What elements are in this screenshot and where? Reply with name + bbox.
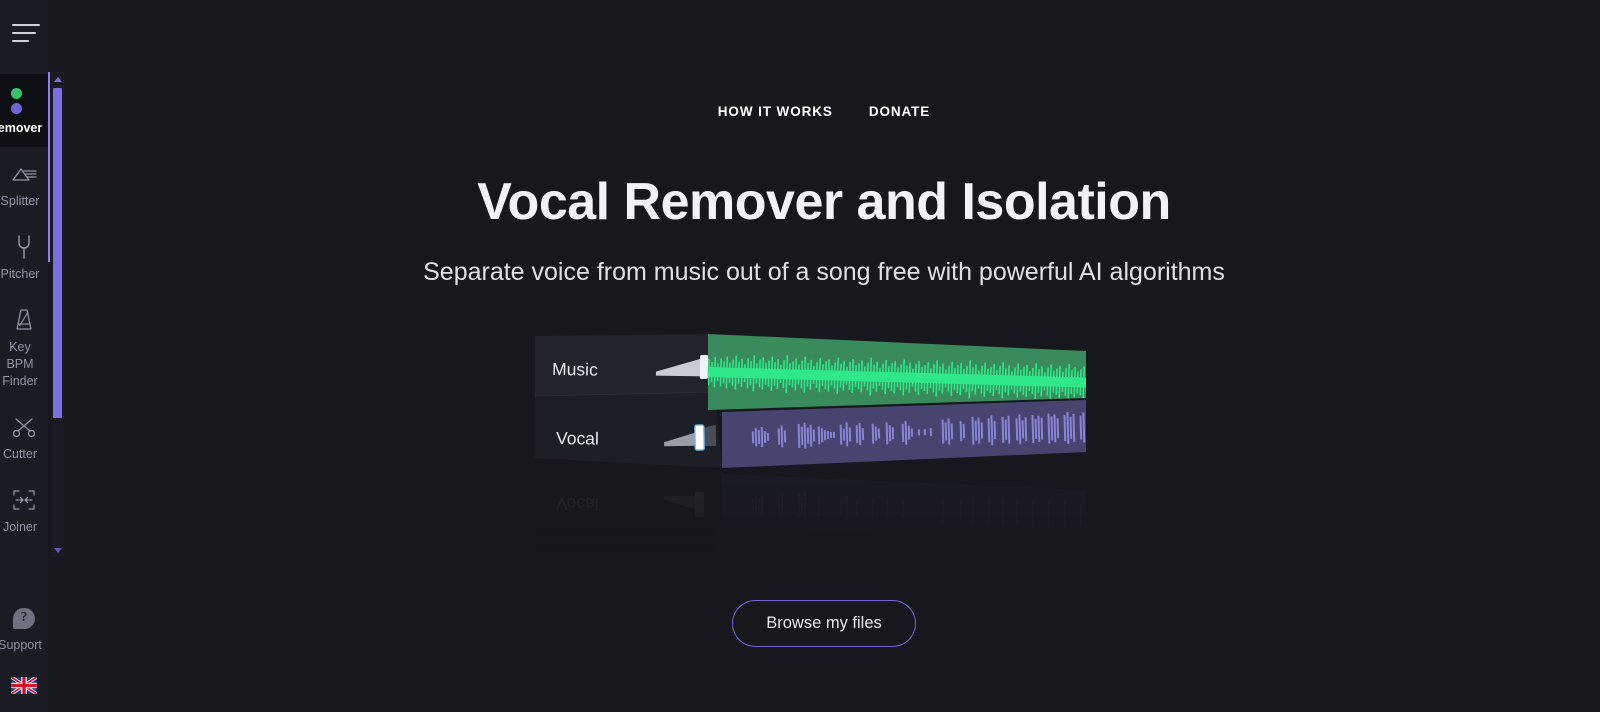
scissors-icon [9,412,39,442]
support-label: Support [0,637,42,654]
sidebar-item-label: Cutter [3,446,37,463]
vocal-slider-handle[interactable] [695,425,704,450]
upload-area: Browse my files [68,600,1580,647]
sidebar-item-label: emover [0,120,42,137]
vocal-remover-dots-icon [9,86,39,116]
app-root: emover Splitter [0,0,1600,712]
scroll-down-arrow[interactable] [54,548,62,553]
sidebar-item-vocal-remover[interactable]: emover [0,74,48,147]
purple-dot [11,103,22,114]
tracks-illustration-svg: Music Vocal [530,326,1130,556]
sidebar: emover Splitter [0,0,48,712]
sidebar-item-label: Pitcher [1,266,40,283]
menu-line-1 [12,24,40,26]
metronome-icon [9,305,39,335]
scrollbar-thumb[interactable] [53,88,62,418]
language-switcher[interactable] [0,664,48,708]
scroll-up-arrow[interactable] [54,77,62,82]
vocal-track-label: Vocal [556,428,599,449]
sidebar-item-label: Splitter [1,193,40,210]
browse-files-button[interactable]: Browse my files [732,600,916,647]
sidebar-item-support[interactable]: ? Support [0,591,48,664]
green-dot [11,88,22,99]
page-title: Vocal Remover and Isolation [68,172,1580,232]
sidebar-nav: emover Splitter [0,66,48,591]
reflected-vocal-label: Vocal [556,494,599,514]
uk-flag-icon [9,670,39,700]
menu-line-2 [12,32,36,34]
page-subtitle: Separate voice from music out of a song … [68,258,1580,287]
tracks-reflection: Vocal [535,474,1086,556]
menu-line-3 [12,40,29,42]
tracks-illustration: Music Vocal [530,326,1130,556]
sidebar-footer: ? Support [0,591,48,712]
sidebar-item-label: Joiner [3,519,37,536]
music-track-label: Music [552,359,598,380]
tracks-panel: Music Vocal [535,334,1088,468]
sidebar-item-splitter[interactable]: Splitter [0,147,48,220]
top-navigation: HOW IT WORKS DONATE [68,104,1580,119]
sidebar-item-joiner[interactable]: Joiner [0,473,48,546]
nav-link-donate[interactable]: DONATE [869,104,930,119]
sidebar-item-pitcher[interactable]: Pitcher [0,220,48,293]
scrollbar-edge-line [48,72,50,262]
question-bubble-icon: ? [9,603,39,633]
main-content: HOW IT WORKS DONATE Vocal Remover and Is… [68,0,1600,712]
nav-link-how-it-works[interactable]: HOW IT WORKS [718,104,833,119]
tuning-fork-icon [9,232,39,262]
menu-icon[interactable] [0,0,48,66]
vocal-track-background [722,400,1086,468]
sidebar-item-label: Key BPM Finder [0,339,48,390]
joiner-icon [9,485,39,515]
sidebar-scrollbar[interactable] [51,72,64,557]
splitter-icon [9,159,39,189]
sidebar-item-cutter[interactable]: Cutter [0,400,48,473]
sidebar-item-key-bpm-finder[interactable]: Key BPM Finder [0,293,48,400]
